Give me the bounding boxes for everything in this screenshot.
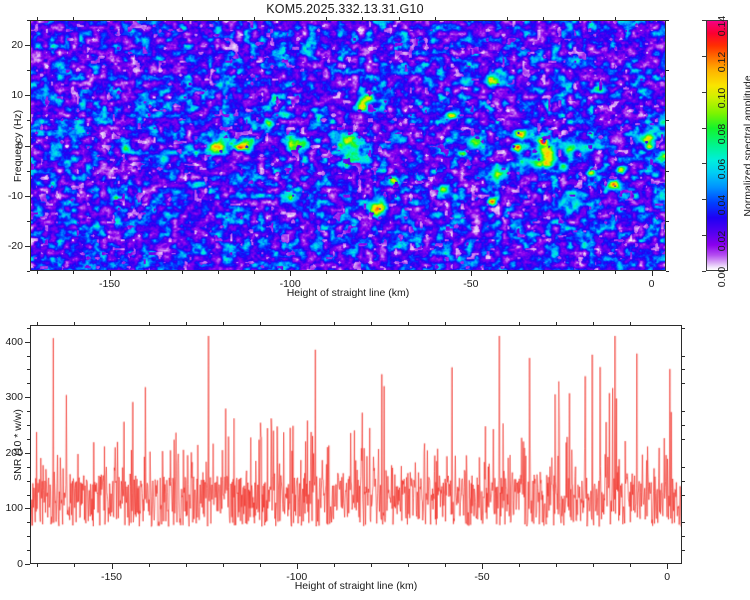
colorbar-tick	[702, 271, 706, 272]
snr-xtick-minor	[260, 322, 261, 325]
snr-yticklabel: 400	[0, 336, 23, 348]
snr-xtick-minor	[630, 322, 631, 325]
snr-ytick-minor	[27, 550, 30, 551]
snr-ytick-minor	[27, 369, 30, 370]
spectrogram-ytick	[25, 45, 30, 46]
snr-xtick	[667, 564, 668, 569]
snr-xtick-minor	[334, 564, 335, 567]
colorbar-tick	[702, 235, 706, 236]
snr-xtick-minor	[445, 322, 446, 325]
snr-xticklabel: 0	[664, 571, 670, 583]
spectrogram-xtick-minor	[507, 271, 508, 274]
spectrogram-ytick-minor	[666, 120, 669, 121]
snr-x-axis-label: Height of straight line (km)	[295, 580, 418, 592]
spectrogram-xtick-minor	[579, 271, 580, 274]
snr-ytick-minor	[682, 425, 685, 426]
snr-ytick-minor	[682, 356, 685, 357]
colorbar-label: Normalized spectral amplitude	[742, 75, 750, 216]
snr-xtick-minor	[556, 564, 557, 567]
snr-xtick-minor	[186, 322, 187, 325]
spectrogram-xtick-minor	[435, 271, 436, 274]
page-title: KOM5.2025.332.13.31.G10	[0, 2, 690, 16]
figure-root: KOM5.2025.332.13.31.G10 -150-100-500-20-…	[0, 0, 750, 600]
snr-ytick-minor	[682, 536, 685, 537]
spectrogram-axes	[30, 20, 666, 271]
spectrogram-yticklabel: -10	[0, 190, 23, 202]
spectrogram-ytick	[25, 146, 30, 147]
spectrogram-ytick-minor	[666, 20, 669, 21]
snr-xtick-minor	[593, 322, 594, 325]
snr-ytick-minor	[682, 481, 685, 482]
spectrogram-ytick-minor	[27, 70, 30, 71]
snr-xtick-minor	[519, 564, 520, 567]
snr-ytick-minor	[27, 383, 30, 384]
spectrogram-ytick-minor	[27, 171, 30, 172]
snr-ytick-minor	[682, 495, 685, 496]
snr-y-axis-label: SNR (10 * w/w)	[12, 409, 24, 481]
spectrogram-xtick-minor	[182, 17, 183, 20]
spectrogram-xtick-minor	[615, 271, 616, 274]
spectrogram-ytick-minor	[666, 171, 669, 172]
snr-xtick-minor	[260, 564, 261, 567]
snr-xtick-minor	[223, 564, 224, 567]
snr-ytick-minor	[27, 356, 30, 357]
spectrogram-xtick-minor	[254, 271, 255, 274]
snr-ytick-minor	[27, 439, 30, 440]
spectrogram-xtick	[110, 271, 111, 276]
snr-xtick-minor	[408, 322, 409, 325]
snr-ytick-minor	[682, 328, 685, 329]
spectrogram-y-axis-label: Frequency (Hz)	[12, 110, 24, 182]
spectrogram-xtick-minor	[37, 17, 38, 20]
spectrogram-xtick	[652, 271, 653, 276]
colorbar-ticklabel: 0.06	[716, 154, 728, 184]
snr-ytick	[25, 564, 30, 565]
spectrogram-image	[31, 21, 665, 270]
snr-ytick-minor	[27, 495, 30, 496]
colorbar-ticklabel: 0.12	[716, 47, 728, 77]
spectrogram-xtick-minor	[435, 17, 436, 20]
snr-ytick-minor	[27, 425, 30, 426]
colorbar-tick	[702, 56, 706, 57]
snr-xtick-minor	[334, 322, 335, 325]
spectrogram-xticklabel: 0	[649, 278, 655, 290]
spectrogram-ytick-minor	[666, 70, 669, 71]
spectrogram-xtick-minor	[37, 271, 38, 274]
spectrogram-xtick-minor	[326, 271, 327, 274]
snr-xtick-minor	[37, 564, 38, 567]
snr-xtick-minor	[223, 322, 224, 325]
snr-xticklabel: -150	[101, 571, 122, 583]
snr-xtick-minor	[149, 564, 150, 567]
spectrogram-xtick-minor	[146, 17, 147, 20]
snr-xtick-minor	[519, 322, 520, 325]
colorbar-ticklabel: 0.14	[716, 11, 728, 41]
spectrogram-xtick	[290, 271, 291, 276]
spectrogram-ytick-minor	[27, 271, 30, 272]
snr-xtick-minor	[74, 564, 75, 567]
colorbar-ticklabel: 0.04	[716, 190, 728, 220]
spectrogram-xtick-minor	[218, 271, 219, 274]
snr-xtick-minor	[593, 564, 594, 567]
colorbar-ticklabel: 0.00	[716, 262, 728, 292]
snr-ytick	[25, 397, 30, 398]
spectrogram-ytick-minor	[27, 221, 30, 222]
spectrogram-xtick-minor	[543, 271, 544, 274]
snr-ytick-minor	[27, 522, 30, 523]
snr-xtick	[112, 564, 113, 569]
snr-xtick-minor	[37, 322, 38, 325]
spectrogram-ytick-minor	[666, 271, 669, 272]
spectrogram-xticklabel: -150	[99, 278, 120, 290]
spectrogram-ytick	[25, 95, 30, 96]
snr-yticklabel: 0	[0, 558, 23, 570]
snr-xtick-minor	[556, 322, 557, 325]
spectrogram-xtick-minor	[362, 17, 363, 20]
spectrogram-ytick	[25, 246, 30, 247]
snr-xtick-minor	[74, 322, 75, 325]
snr-ytick-minor	[27, 467, 30, 468]
spectrogram-xtick-minor	[399, 17, 400, 20]
snr-yticklabel: 100	[0, 502, 23, 514]
spectrogram-xtick	[471, 271, 472, 276]
snr-xticklabel: -50	[474, 571, 489, 583]
spectrogram-ytick-minor	[27, 120, 30, 121]
snr-xtick-minor	[149, 322, 150, 325]
snr-ytick-minor	[682, 550, 685, 551]
spectrogram-xtick-minor	[73, 17, 74, 20]
snr-xtick-minor	[371, 564, 372, 567]
snr-ytick	[25, 342, 30, 343]
spectrogram-xtick-minor	[507, 17, 508, 20]
spectrogram-xtick-minor	[146, 271, 147, 274]
colorbar-tick	[702, 128, 706, 129]
snr-axes	[30, 325, 682, 564]
snr-xtick-minor	[445, 564, 446, 567]
spectrogram-x-axis-label: Height of straight line (km)	[287, 287, 410, 299]
spectrogram-xtick-minor	[399, 271, 400, 274]
spectrogram-xtick-minor	[254, 17, 255, 20]
snr-xtick-minor	[186, 564, 187, 567]
spectrogram-xtick-minor	[73, 271, 74, 274]
spectrogram-xtick-minor	[218, 17, 219, 20]
snr-ytick-minor	[27, 328, 30, 329]
spectrogram-ytick-minor	[666, 221, 669, 222]
colorbar-ticklabel: 0.08	[716, 119, 728, 149]
colorbar-tick	[702, 92, 706, 93]
spectrogram-xtick-minor	[615, 17, 616, 20]
snr-ytick-minor	[682, 439, 685, 440]
snr-ytick-minor	[682, 411, 685, 412]
snr-ytick-minor	[682, 383, 685, 384]
spectrogram-xtick-minor	[579, 17, 580, 20]
colorbar-ticklabel: 0.10	[716, 83, 728, 113]
snr-ytick-minor	[682, 369, 685, 370]
snr-ytick-minor	[27, 481, 30, 482]
spectrogram-xtick-minor	[182, 271, 183, 274]
snr-ytick-minor	[27, 411, 30, 412]
spectrogram-xticklabel: -50	[463, 278, 478, 290]
snr-ytick-minor	[682, 467, 685, 468]
colorbar-tick	[702, 199, 706, 200]
snr-xtick-minor	[408, 564, 409, 567]
spectrogram-xtick-minor	[326, 17, 327, 20]
snr-trace-plot	[31, 326, 681, 563]
colorbar-tick	[702, 163, 706, 164]
snr-xtick	[482, 564, 483, 569]
snr-ytick	[25, 508, 30, 509]
spectrogram-yticklabel: 10	[0, 89, 23, 101]
snr-xtick-minor	[630, 564, 631, 567]
snr-ytick-minor	[682, 522, 685, 523]
snr-ytick-minor	[27, 536, 30, 537]
spectrogram-xtick-minor	[362, 271, 363, 274]
spectrogram-yticklabel: -20	[0, 240, 23, 252]
snr-yticklabel: 300	[0, 391, 23, 403]
snr-xtick	[297, 564, 298, 569]
spectrogram-ytick-minor	[27, 20, 30, 21]
colorbar-tick	[702, 20, 706, 21]
snr-ytick	[25, 453, 30, 454]
spectrogram-ytick	[25, 196, 30, 197]
colorbar-ticklabel: 0.02	[716, 226, 728, 256]
spectrogram-xtick-minor	[543, 17, 544, 20]
spectrogram-yticklabel: 20	[0, 39, 23, 51]
snr-xtick-minor	[371, 322, 372, 325]
